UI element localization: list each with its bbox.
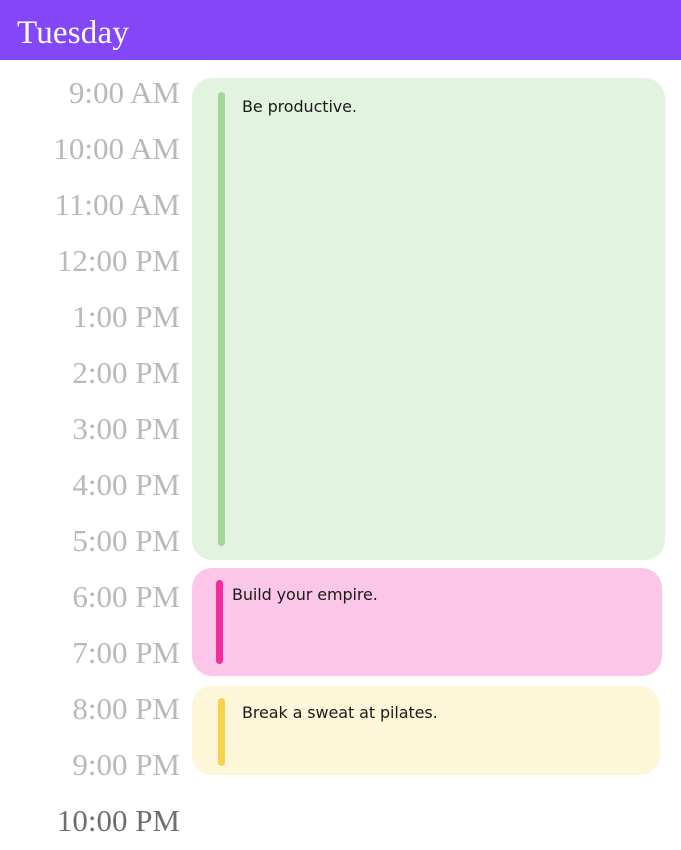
day-schedule-view: Tuesday 9:00 AM10:00 AM11:00 AM12:00 PM1…	[0, 0, 681, 850]
event-accent-bar	[218, 92, 225, 546]
event-accent-bar	[216, 580, 223, 664]
event-card[interactable]: Break a sweat at pilates.	[192, 686, 660, 775]
event-card[interactable]: Be productive.	[192, 78, 665, 560]
events-column: Be productive. Build your empire. Break …	[0, 0, 681, 850]
event-title: Build your empire.	[232, 585, 378, 605]
event-card[interactable]: Build your empire.	[192, 568, 662, 676]
event-title: Be productive.	[242, 97, 357, 117]
event-title: Break a sweat at pilates.	[242, 703, 438, 723]
event-accent-bar	[218, 698, 225, 766]
